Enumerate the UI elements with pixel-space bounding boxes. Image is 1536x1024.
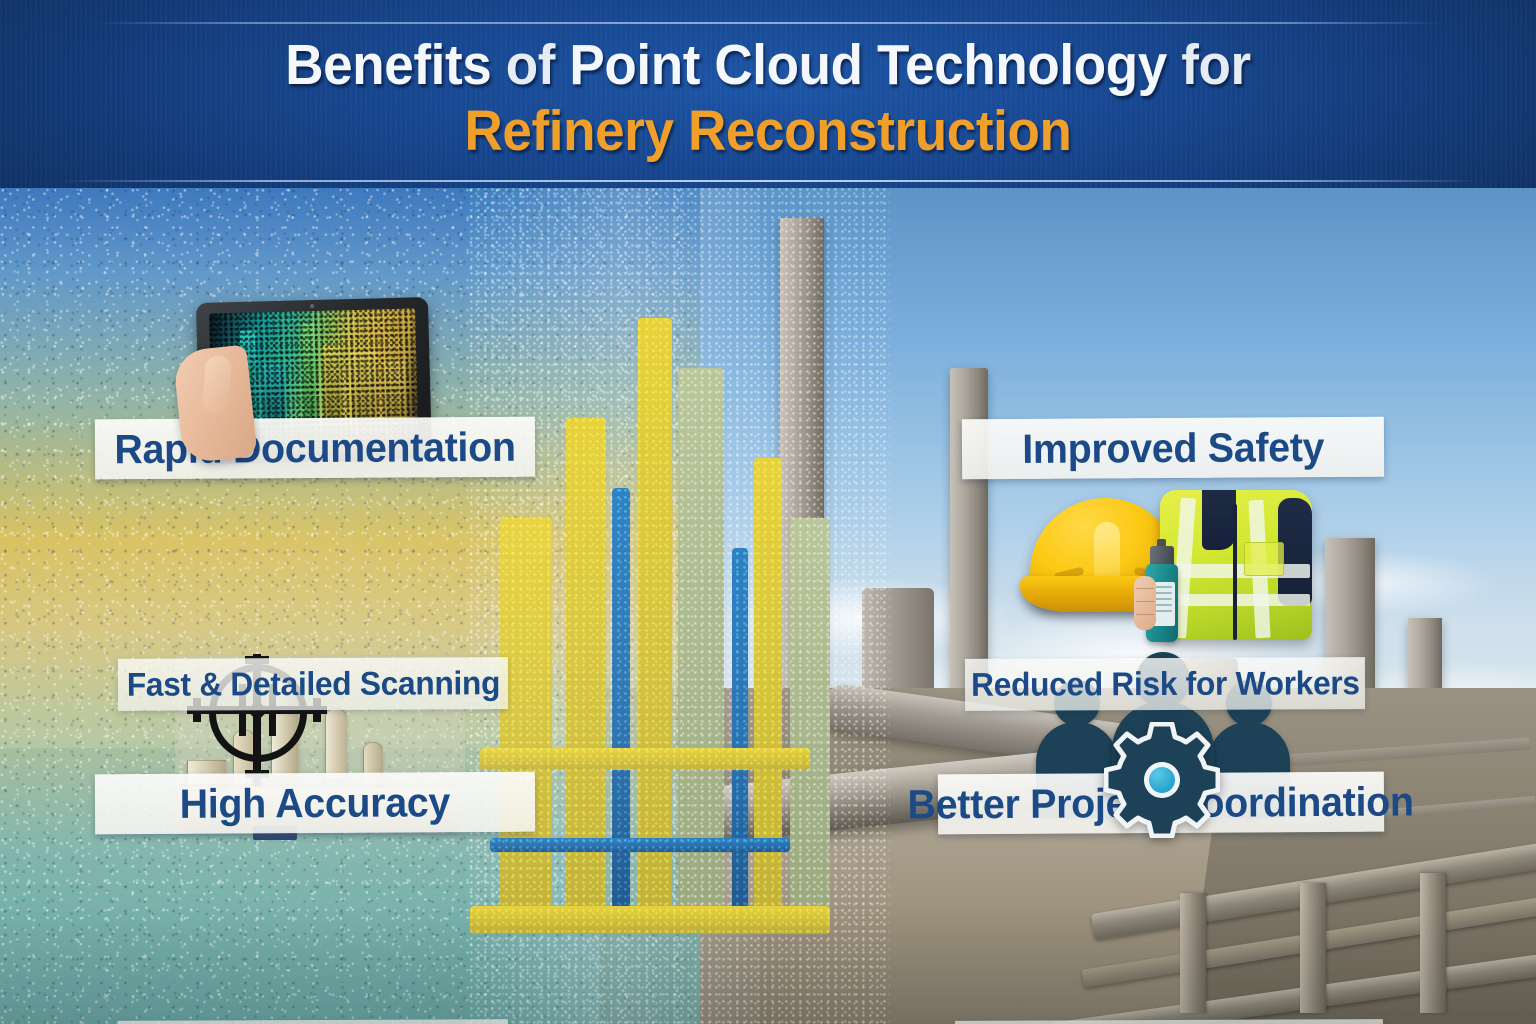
- header-rule-bottom: [60, 180, 1480, 182]
- title-word-of: of: [506, 33, 555, 97]
- safety-vest-icon: [1160, 490, 1312, 640]
- infographic-body: Rapid Documentation Fast & Detailed Scan…: [0, 188, 1536, 1024]
- page-title-line-1: Benefits of Point Cloud Technology for: [54, 33, 1482, 97]
- title-word-point-cloud-technology: Point Cloud Technology: [569, 33, 1166, 97]
- hand-holding-tablet: [172, 344, 257, 463]
- pc-platform-base: [470, 906, 830, 934]
- heading-text: Rapid Documentation: [114, 423, 516, 472]
- page-subtitle: Refinery Reconstruction: [54, 99, 1482, 163]
- benefit-heading-rapid-documentation: Rapid Documentation: [95, 417, 535, 480]
- vest-zipper: [1233, 504, 1237, 640]
- pipe-rack-column-2: [1300, 883, 1326, 1013]
- caption-text: Reduced Risk for Workers: [971, 664, 1360, 704]
- pc-tower-7: [754, 458, 782, 918]
- pipe-rack-column-1: [1180, 893, 1206, 1013]
- caption-text: Fast & Detailed Scanning: [126, 664, 499, 704]
- pc-pipe-horizontal-2: [490, 838, 790, 852]
- infographic-root: Benefits of Point Cloud Technology for R…: [0, 0, 1536, 1024]
- heading-text: High Accuracy: [180, 779, 451, 828]
- benefit-caption-fast-detailed-scanning: Fast & Detailed Scanning: [118, 657, 508, 711]
- pc-tower-1: [500, 518, 552, 918]
- safety-gear-icon: [1020, 484, 1316, 656]
- plant-column-2: [325, 708, 347, 780]
- spray-bottle-icon: [1142, 546, 1182, 642]
- benefit-heading-improved-safety: Improved Safety: [962, 417, 1384, 480]
- benefit-caption-precise-as-built-data: Precise As-Built Data: [118, 1019, 508, 1024]
- benefit-caption-enhanced-team-collaboration: Enhanced Team Collaboration: [955, 1019, 1383, 1024]
- heading-text: Improved Safety: [1022, 424, 1324, 473]
- header-banner: Benefits of Point Cloud Technology for R…: [0, 0, 1536, 188]
- point-cloud-refinery-cluster: [470, 188, 890, 1024]
- pc-tower-2: [566, 418, 606, 918]
- pc-tower-8: [790, 518, 830, 918]
- pc-tower-4: [638, 318, 672, 918]
- pc-tower-5: [678, 368, 724, 928]
- pc-pipe-horizontal-1: [480, 748, 810, 770]
- thumb: [202, 355, 232, 415]
- benefit-heading-high-accuracy: High Accuracy: [95, 772, 535, 835]
- hand-holding-bottle: [1134, 576, 1156, 630]
- title-word-benefits: Benefits: [285, 33, 491, 97]
- pc-tower-6: [732, 548, 748, 918]
- safety-vest-navy-left: [1202, 490, 1236, 550]
- gear-icon: [1104, 722, 1220, 838]
- vest-pocket: [1244, 542, 1284, 576]
- header-text-wrap: Benefits of Point Cloud Technology for R…: [0, 0, 1536, 163]
- title-word-for: for: [1181, 33, 1251, 97]
- gear-center-hub: [1144, 762, 1180, 798]
- benefit-caption-reduced-risk-for-workers: Reduced Risk for Workers: [965, 657, 1365, 711]
- pipe-rack-column-3: [1420, 873, 1446, 1013]
- pc-tower-3: [612, 488, 630, 918]
- tablet-camera-icon: [310, 304, 314, 308]
